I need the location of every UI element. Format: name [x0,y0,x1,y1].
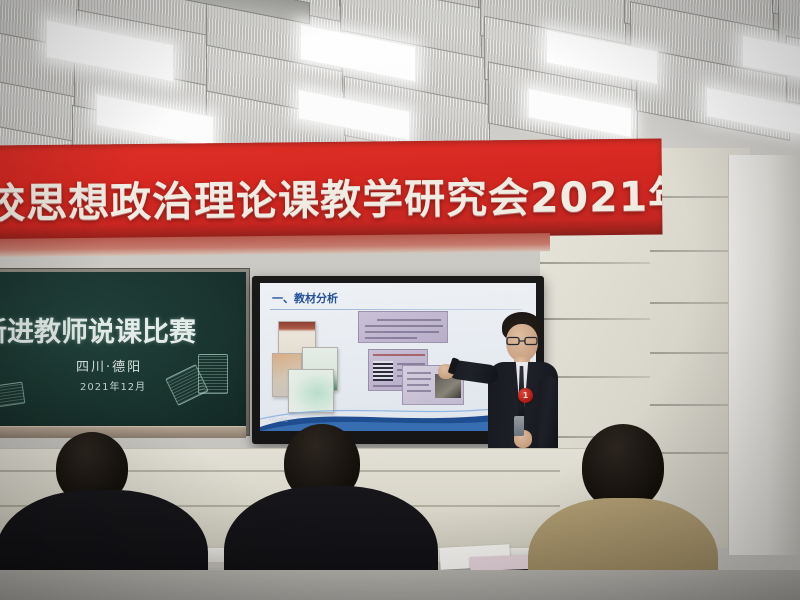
slide-title: 一、教材分析 [272,290,338,306]
floor [0,570,800,600]
glasses-icon [506,336,540,346]
wall-column [728,155,800,555]
contestant-number-badge: 1 [518,388,533,403]
desk-paper-2[interactable] [470,555,530,571]
chalk-book-left-icon [0,382,25,409]
chalk-book-right-2-icon [198,354,228,394]
blackboard: 新进教师说课比赛 四川·德阳 2021年12月 [0,272,246,430]
lanyard [514,416,524,436]
qr-code-icon [373,361,393,381]
badge-number: 1 [523,391,529,400]
blackboard-date: 2021年12月 [80,378,146,393]
blackboard-title: 新进教师说课比赛 [0,310,196,349]
slide-text-box-quote [358,311,448,343]
classroom-scene: 校思想政治理论课教学研究会2021年新进教师说课比赛 新进教师说课比赛 四川·德… [0,0,800,600]
event-banner: 校思想政治理论课教学研究会2021年新进教师说课比赛 [0,138,662,241]
blackboard-subtitle: 四川·德阳 [76,356,142,375]
slide-publisher-label: 人民出版社 [268,417,288,423]
